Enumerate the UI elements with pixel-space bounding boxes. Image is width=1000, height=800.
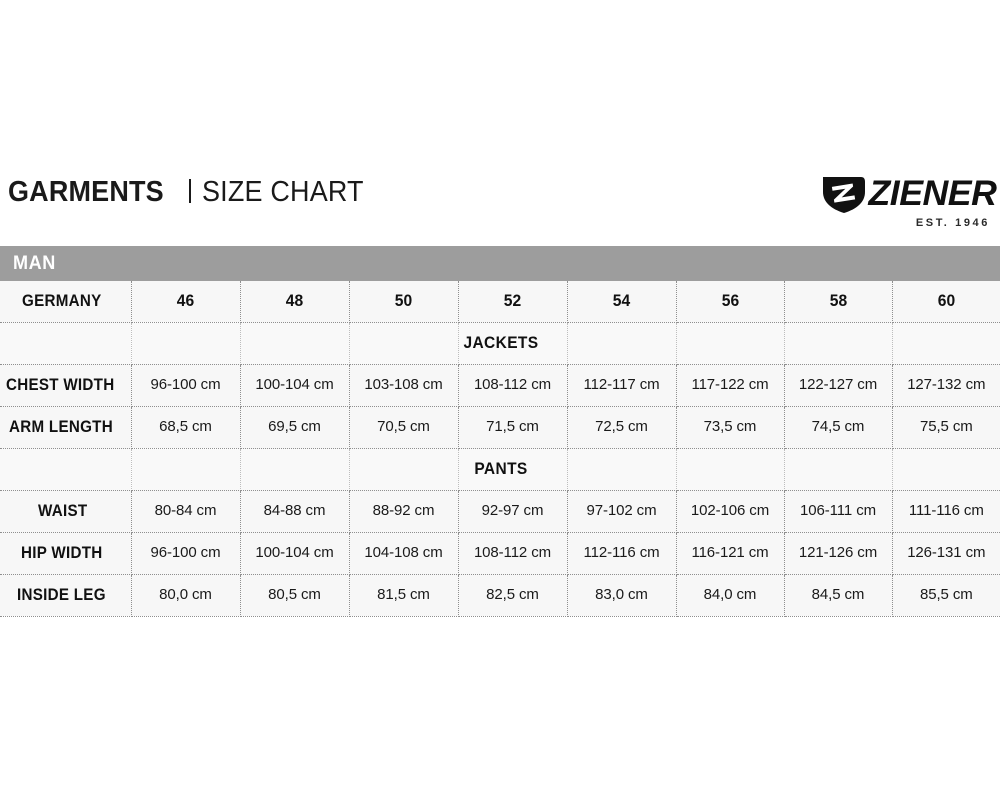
- size-chart-table: MAN GERMANY 46 48 50 52 54 56 58 60: [0, 246, 1000, 617]
- measurement-cell: 73,5 cm: [676, 406, 784, 448]
- group-header-row: MAN: [0, 246, 1000, 281]
- table-row: INSIDE LEG 80,0 cm 80,5 cm 81,5 cm 82,5 …: [0, 574, 1000, 616]
- measurement-cell: 126-131 cm: [892, 532, 1000, 574]
- measurement-cell: 84,5 cm: [784, 574, 892, 616]
- row-label: INSIDE LEG: [17, 586, 106, 605]
- measurement-value: 106-111 cm: [800, 502, 876, 519]
- measurement-cell: 80,5 cm: [240, 574, 349, 616]
- measurement-value: 100-104 cm: [255, 376, 333, 393]
- page-header: GARMENTS SIZE CHART ZIENER EST. 1946: [0, 170, 1000, 240]
- measurement-value: 83,0 cm: [595, 586, 648, 603]
- measurement-value: 70,5 cm: [377, 418, 430, 435]
- ziener-shield-z-emblem-icon: [821, 174, 867, 214]
- measurement-cell: 80-84 cm: [131, 490, 240, 532]
- measurement-cell: 69,5 cm: [240, 406, 349, 448]
- section-title-spacer-cell: [240, 448, 349, 490]
- measurement-cell: 80,0 cm: [131, 574, 240, 616]
- measurement-cell: 68,5 cm: [131, 406, 240, 448]
- measurement-value: 85,5 cm: [920, 586, 973, 603]
- size-value: 60: [938, 291, 955, 311]
- measurement-cell: 100-104 cm: [240, 364, 349, 406]
- brand-logo: ZIENER EST. 1946: [796, 170, 996, 236]
- measurement-value: 100-104 cm: [255, 544, 333, 561]
- section-title-spacer-cell: [458, 322, 567, 364]
- measurement-cell: 82,5 cm: [458, 574, 567, 616]
- measurement-value: 80,5 cm: [268, 586, 321, 603]
- row-label-cell: HIP WIDTH: [0, 532, 131, 574]
- measurement-cell: 97-102 cm: [567, 490, 676, 532]
- section-title-spacer-cell: [676, 448, 784, 490]
- size-cell: 60: [892, 281, 1000, 322]
- measurement-value: 102-106 cm: [691, 502, 769, 519]
- measurement-cell: 84,0 cm: [676, 574, 784, 616]
- measurement-cell: 106-111 cm: [784, 490, 892, 532]
- measurement-value: 72,5 cm: [595, 418, 648, 435]
- section-title-spacer-cell: [349, 448, 458, 490]
- row-label-cell: WAIST: [0, 490, 131, 532]
- measurement-value: 121-126 cm: [799, 544, 877, 561]
- measurement-cell: 75,5 cm: [892, 406, 1000, 448]
- measurement-cell: 112-116 cm: [567, 532, 676, 574]
- section-title-spacer-cell: [567, 322, 676, 364]
- measurement-value: 127-132 cm: [907, 376, 985, 393]
- row-label-cell: CHEST WIDTH: [0, 364, 131, 406]
- size-header-label-cell: GERMANY: [0, 281, 131, 322]
- section-title-spacer-cell: [676, 322, 784, 364]
- size-value: 58: [829, 291, 846, 311]
- group-header-label: MAN: [13, 253, 56, 275]
- measurement-value: 73,5 cm: [704, 418, 757, 435]
- measurement-value: 112-116 cm: [584, 544, 660, 561]
- measurement-cell: 104-108 cm: [349, 532, 458, 574]
- measurement-value: 81,5 cm: [377, 586, 430, 603]
- size-chart-page: GARMENTS SIZE CHART ZIENER EST. 1946: [0, 0, 1000, 800]
- measurement-value: 84,0 cm: [704, 586, 757, 603]
- size-chart-body: MAN GERMANY 46 48 50 52 54 56 58 60: [0, 246, 1000, 616]
- measurement-value: 80,0 cm: [159, 586, 212, 603]
- measurement-value: 126-131 cm: [907, 544, 985, 561]
- measurement-value: 108-112 cm: [474, 544, 551, 561]
- size-cell: 52: [458, 281, 567, 322]
- measurement-cell: 111-116 cm: [892, 490, 1000, 532]
- measurement-value: 92-97 cm: [482, 502, 544, 519]
- measurement-value: 96-100 cm: [151, 376, 221, 393]
- section-title-spacer-cell: [240, 322, 349, 364]
- measurement-value: 84,5 cm: [812, 586, 865, 603]
- measurement-value: 97-102 cm: [587, 502, 657, 519]
- size-cell: 58: [784, 281, 892, 322]
- measurement-value: 71,5 cm: [486, 418, 539, 435]
- measurement-cell: 85,5 cm: [892, 574, 1000, 616]
- logo-row: ZIENER: [796, 174, 996, 214]
- row-label: CHEST WIDTH: [6, 376, 114, 395]
- logo-established-text: EST. 1946: [796, 217, 996, 229]
- size-value: 54: [613, 291, 630, 311]
- size-value: 56: [721, 291, 738, 311]
- measurement-value: 75,5 cm: [920, 418, 973, 435]
- measurement-value: 116-121 cm: [691, 544, 768, 561]
- page-title: GARMENTS SIZE CHART: [0, 170, 375, 209]
- table-row: ARM LENGTH 68,5 cm 69,5 cm 70,5 cm 71,5 …: [0, 406, 1000, 448]
- row-label: GERMANY: [22, 292, 102, 311]
- section-title-spacer-cell: [892, 448, 1000, 490]
- measurement-cell: 100-104 cm: [240, 532, 349, 574]
- size-cell: 48: [240, 281, 349, 322]
- measurement-cell: 122-127 cm: [784, 364, 892, 406]
- measurement-value: 74,5 cm: [812, 418, 865, 435]
- section-title-spacer-cell: [458, 448, 567, 490]
- table-row: HIP WIDTH 96-100 cm 100-104 cm 104-108 c…: [0, 532, 1000, 574]
- measurement-cell: 72,5 cm: [567, 406, 676, 448]
- measurement-value: 111-116 cm: [909, 502, 984, 519]
- measurement-cell: 71,5 cm: [458, 406, 567, 448]
- section-title-row: JACKETS: [0, 322, 1000, 364]
- row-label-cell: ARM LENGTH: [0, 406, 131, 448]
- measurement-value: 104-108 cm: [364, 544, 442, 561]
- measurement-cell: 70,5 cm: [349, 406, 458, 448]
- measurement-value: 82,5 cm: [486, 586, 539, 603]
- section-title-cell: JACKETS: [131, 322, 240, 364]
- measurement-cell: 81,5 cm: [349, 574, 458, 616]
- section-title-spacer-cell: [349, 322, 458, 364]
- measurement-value: 108-112 cm: [474, 376, 551, 393]
- group-header-cell: MAN: [0, 246, 1000, 281]
- section-title-spacer-cell: [892, 322, 1000, 364]
- size-cell: 56: [676, 281, 784, 322]
- title-separator-bar: [189, 179, 191, 203]
- table-row: CHEST WIDTH 96-100 cm 100-104 cm 103-108…: [0, 364, 1000, 406]
- page-title-sub: SIZE CHART: [202, 176, 364, 209]
- measurement-value: 103-108 cm: [364, 376, 442, 393]
- size-cell: 50: [349, 281, 458, 322]
- measurement-value: 96-100 cm: [151, 544, 221, 561]
- measurement-value: 122-127 cm: [799, 376, 877, 393]
- size-cell: 54: [567, 281, 676, 322]
- section-title-spacer-cell: [0, 448, 131, 490]
- measurement-cell: 103-108 cm: [349, 364, 458, 406]
- measurement-cell: 108-112 cm: [458, 364, 567, 406]
- measurement-cell: 88-92 cm: [349, 490, 458, 532]
- measurement-value: 68,5 cm: [159, 418, 212, 435]
- measurement-cell: 84-88 cm: [240, 490, 349, 532]
- size-value: 48: [286, 291, 303, 311]
- measurement-value: 80-84 cm: [155, 502, 217, 519]
- row-label: WAIST: [38, 502, 87, 521]
- measurement-cell: 102-106 cm: [676, 490, 784, 532]
- measurement-cell: 96-100 cm: [131, 532, 240, 574]
- size-chart-table-wrapper: MAN GERMANY 46 48 50 52 54 56 58 60: [0, 246, 1000, 617]
- size-cell: 46: [131, 281, 240, 322]
- measurement-cell: 74,5 cm: [784, 406, 892, 448]
- section-title-spacer-cell: [567, 448, 676, 490]
- row-label-cell: INSIDE LEG: [0, 574, 131, 616]
- size-value: 52: [504, 291, 521, 311]
- measurement-cell: 96-100 cm: [131, 364, 240, 406]
- section-title-spacer-cell: [784, 448, 892, 490]
- measurement-cell: 108-112 cm: [458, 532, 567, 574]
- measurement-cell: 112-117 cm: [567, 364, 676, 406]
- measurement-value: 69,5 cm: [268, 418, 321, 435]
- measurement-cell: 116-121 cm: [676, 532, 784, 574]
- measurement-value: 84-88 cm: [264, 502, 326, 519]
- section-title-cell: PANTS: [131, 448, 240, 490]
- measurement-cell: 127-132 cm: [892, 364, 1000, 406]
- size-value: 46: [177, 291, 194, 311]
- section-title-spacer-cell: [784, 322, 892, 364]
- measurement-value: 117-122 cm: [691, 376, 768, 393]
- measurement-cell: 92-97 cm: [458, 490, 567, 532]
- size-header-row: GERMANY 46 48 50 52 54 56 58 60: [0, 281, 1000, 322]
- page-title-main: GARMENTS: [8, 176, 164, 209]
- row-label: HIP WIDTH: [21, 544, 102, 563]
- measurement-cell: 117-122 cm: [676, 364, 784, 406]
- table-row: WAIST 80-84 cm 84-88 cm 88-92 cm 92-97 c…: [0, 490, 1000, 532]
- row-label: ARM LENGTH: [9, 418, 113, 437]
- measurement-value: 88-92 cm: [373, 502, 435, 519]
- section-title-row: PANTS: [0, 448, 1000, 490]
- logo-wordmark: ZIENER: [868, 175, 996, 213]
- measurement-cell: 121-126 cm: [784, 532, 892, 574]
- size-value: 50: [395, 291, 412, 311]
- measurement-value: 112-117 cm: [584, 376, 660, 393]
- section-title-spacer-cell: [0, 322, 131, 364]
- measurement-cell: 83,0 cm: [567, 574, 676, 616]
